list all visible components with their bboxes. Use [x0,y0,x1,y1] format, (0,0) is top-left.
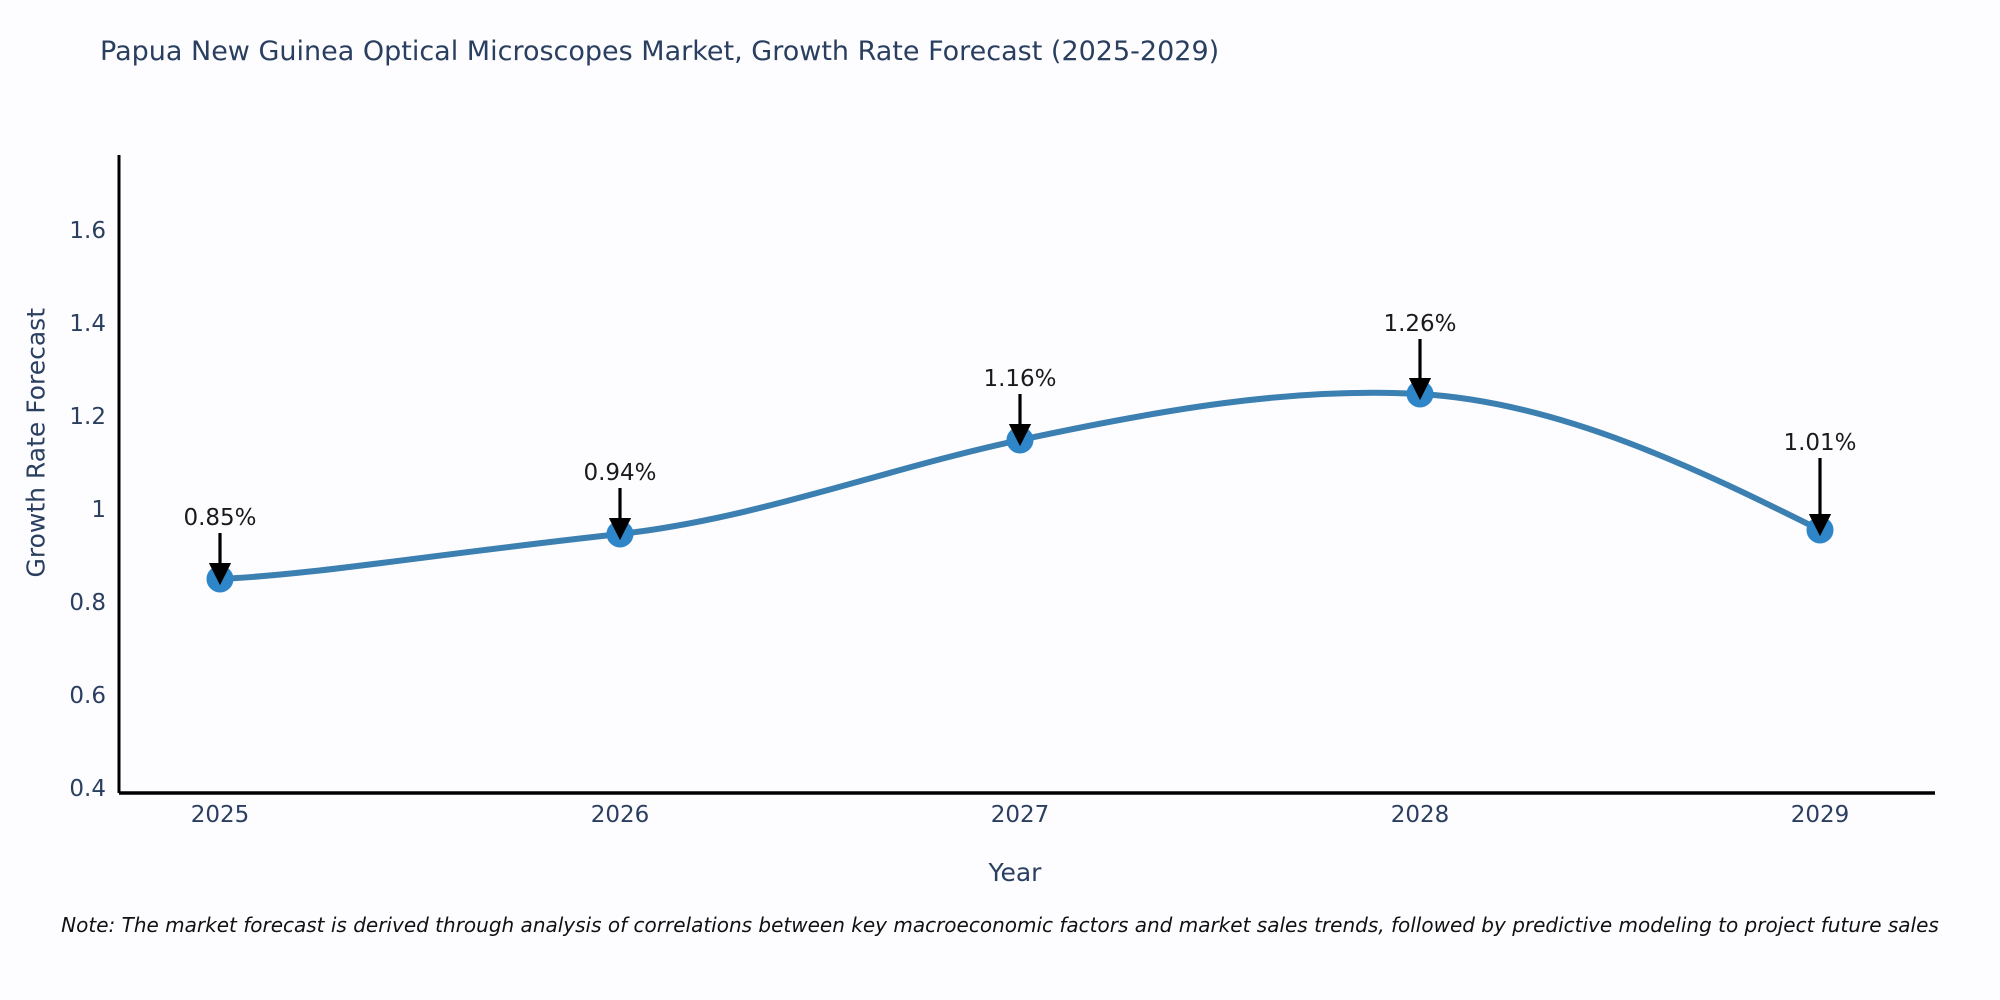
data-point-label: 1.01% [1783,430,1856,456]
data-point-marker[interactable] [607,521,633,547]
data-point-label: 0.85% [183,505,256,531]
data-point-label: 0.94% [583,460,656,486]
data-point-marker[interactable] [1407,381,1433,407]
data-point-marker[interactable] [1807,517,1833,543]
data-point-marker[interactable] [207,566,233,592]
data-point-label: 1.26% [1383,311,1456,337]
chart-container: Papua New Guinea Optical Microscopes Mar… [0,0,2000,1000]
data-point-marker[interactable] [1007,427,1033,453]
plot-area [0,0,2000,1000]
chart-footnote: Note: The market forecast is derived thr… [0,913,2000,937]
data-point-label: 1.16% [983,366,1056,392]
